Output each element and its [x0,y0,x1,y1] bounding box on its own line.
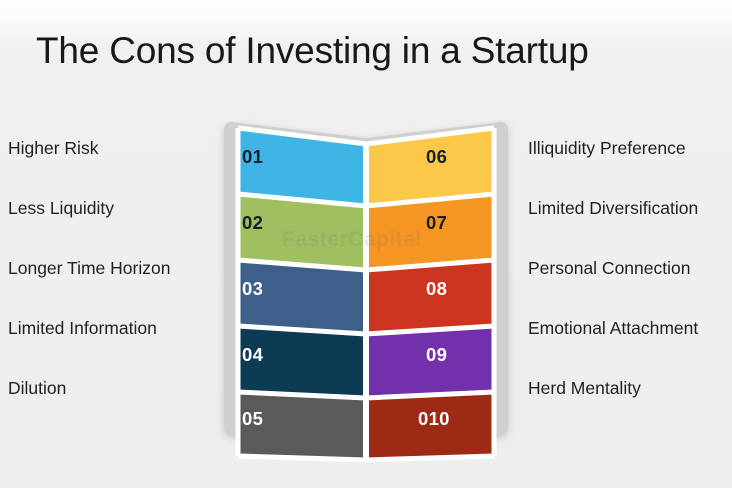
page-title: The Cons of Investing in a Startup [36,28,696,74]
band-04 [238,328,366,396]
list-item: Illiquidity Preference [528,118,728,178]
left-label-1: Higher Risk [8,137,98,159]
infographic-canvas: The Cons of Investing in a Startup Highe… [0,0,732,488]
list-item: Limited Information [8,298,213,358]
left-label-3: Longer Time Horizon [8,257,170,279]
right-label-6: Illiquidity Preference [528,137,686,159]
left-label-column: Higher Risk Less Liquidity Longer Time H… [8,118,213,418]
right-label-column: Illiquidity Preference Limited Diversifi… [528,118,728,418]
right-label-9: Emotional Attachment [528,317,698,339]
left-page [238,128,366,460]
band-010 [366,394,494,460]
left-label-5: Dilution [8,377,66,399]
list-item: Longer Time Horizon [8,238,213,298]
list-item: Dilution [8,358,213,418]
list-item: Limited Diversification [528,178,728,238]
band-07 [366,196,494,268]
list-item: Less Liquidity [8,178,213,238]
list-item: Higher Risk [8,118,213,178]
left-label-4: Limited Information [8,317,157,339]
band-09 [366,328,494,396]
band-03 [238,262,366,332]
list-item: Personal Connection [528,238,728,298]
right-label-7: Limited Diversification [528,197,698,219]
right-label-10: Herd Mentality [528,377,641,399]
band-08 [366,262,494,332]
open-book-graphic: 01 02 03 04 05 06 07 08 09 010 [216,108,516,456]
right-page [366,128,494,460]
band-05 [238,394,366,460]
list-item: Emotional Attachment [528,298,728,358]
band-02 [238,196,366,268]
list-item: Herd Mentality [528,358,728,418]
left-label-2: Less Liquidity [8,197,114,219]
right-label-8: Personal Connection [528,257,690,279]
